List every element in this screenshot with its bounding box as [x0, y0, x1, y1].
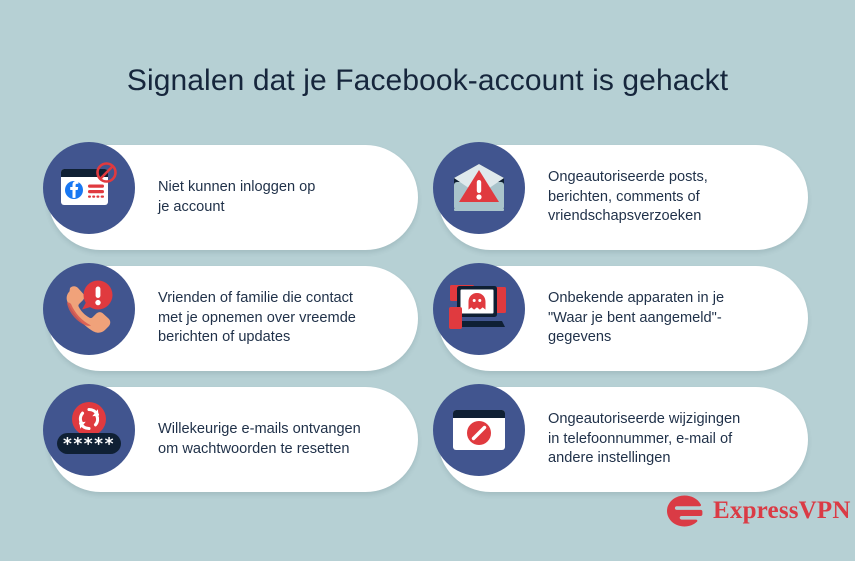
signal-card-4: Onbekende apparaten in je "Waar je bent … — [438, 266, 808, 371]
signal-card-4-label: Onbekende apparaten in je "Waar je bent … — [548, 289, 724, 348]
password-reset-refresh-icon: ***** — [43, 384, 135, 476]
signal-card-6: Ongeautoriseerde wijzigingen in telefoon… — [438, 387, 808, 492]
laptop-ghost-devices-glyph — [446, 279, 512, 339]
signal-card-3: Vrienden of familie die contact met je o… — [48, 266, 418, 371]
svg-text:*****: ***** — [63, 435, 115, 455]
browser-facebook-blocked-glyph — [58, 160, 120, 216]
signal-card-3-label: Vrienden of familie die contact met je o… — [158, 289, 356, 348]
laptop-ghost-devices-icon — [433, 263, 525, 355]
signal-card-1-label: Niet kunnen inloggen op je account — [158, 178, 315, 217]
expressvpn-logo: ExpressVPN — [664, 494, 851, 528]
envelope-warning-icon — [433, 142, 525, 234]
signals-grid: Niet kunnen inloggen op je account Ongea… — [48, 145, 808, 492]
expressvpn-wordmark: ExpressVPN — [713, 497, 851, 525]
signal-card-2: Ongeautoriseerde posts, berichten, comme… — [438, 145, 808, 250]
expressvpn-e-mark — [664, 494, 704, 528]
browser-blocked-settings-glyph — [449, 406, 509, 454]
signal-card-5: ***** Willekeurige e-mails ontvangen om … — [48, 387, 418, 492]
browser-facebook-blocked-icon — [43, 142, 135, 234]
envelope-warning-glyph — [449, 162, 509, 214]
signal-card-6-label: Ongeautoriseerde wijzigingen in telefoon… — [548, 410, 740, 469]
phone-alert-bubble-icon — [43, 263, 135, 355]
infographic-page: Signalen dat je Facebook-account is geha… — [0, 0, 855, 561]
password-reset-refresh-glyph: ***** — [55, 399, 123, 461]
browser-blocked-settings-icon — [433, 384, 525, 476]
signal-card-2-label: Ongeautoriseerde posts, berichten, comme… — [548, 168, 708, 227]
page-title: Signalen dat je Facebook-account is geha… — [0, 64, 855, 98]
signal-card-1: Niet kunnen inloggen op je account — [48, 145, 418, 250]
phone-alert-bubble-glyph — [59, 280, 119, 338]
signal-card-5-label: Willekeurige e-mails ontvangen om wachtw… — [158, 420, 361, 459]
